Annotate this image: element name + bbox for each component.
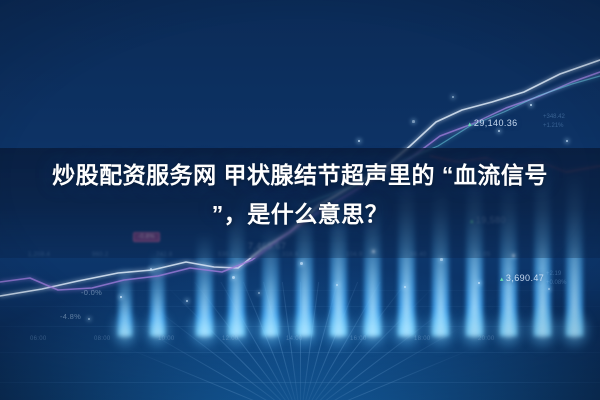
value-sub-label: +2.19 +0.08% (546, 270, 567, 288)
axis-tick-label: 16:00 (350, 336, 367, 342)
axis-tick-label: 20:00 (478, 336, 495, 342)
headline-line-1: 炒股配资服务网 甲状腺结节超声里的 “血流信号 (52, 162, 548, 188)
sparkle-dot (186, 300, 188, 302)
sparkle-dot (412, 120, 415, 123)
value-text: 3,690.47 (506, 273, 544, 283)
sparkle-dot (300, 262, 303, 265)
value-callout: ▴29,140.36 (468, 118, 518, 128)
axis-tick-label: 14:00 (286, 336, 303, 342)
headline-line-2: ”，是什么意思？ (14, 195, 586, 234)
banner-image: 1,208.4960.2742.8530.1318.6104.988.4012.… (0, 0, 600, 400)
value-text: 29,140.36 (474, 118, 518, 128)
percent-label: -4.8% (60, 312, 81, 321)
percent-label: -0.0% (81, 288, 102, 297)
axis-tick-label: 06:00 (30, 336, 47, 342)
axis-tick-label: 10:00 (158, 336, 175, 342)
axis-tick-label: 08:00 (94, 336, 111, 342)
up-caret-icon: ▴ (468, 121, 472, 128)
axis-tick-label: 12:00 (222, 336, 239, 342)
value-sub-label: +348.42 +1.21% (543, 113, 565, 131)
sparkle-dot (440, 258, 443, 261)
sparkle-dot (88, 318, 90, 320)
up-caret-icon: ▴ (500, 276, 504, 283)
value-callout: ▴3,690.47 (500, 273, 544, 283)
sparkle-dot (358, 140, 360, 142)
page-title: 炒股配资服务网 甲状腺结节超声里的 “血流信号 ”，是什么意思？ (0, 156, 600, 234)
sparkle-dot (498, 130, 500, 132)
axis-tick-label: 18:00 (414, 336, 431, 342)
